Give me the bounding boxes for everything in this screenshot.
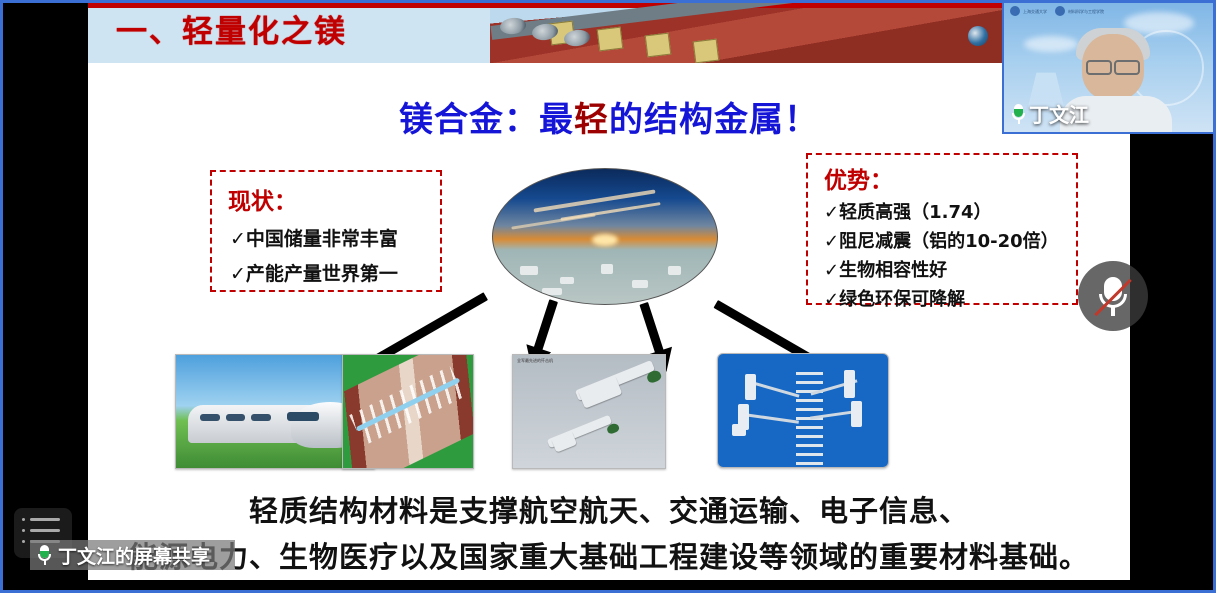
screen-share-indicator: 丁文江的屏幕共享 [30, 540, 235, 570]
slide-headline: 镁合金：最轻的结构金属！ [88, 92, 1130, 141]
status-box-item-2: ✓产能产量世界第一 [230, 259, 430, 286]
institute-logo-text: 材料科学与工程学院 [1068, 9, 1104, 14]
headline-part2: 的结构金属！ [609, 100, 819, 140]
screen-share-label: 丁文江的屏幕共享 [58, 542, 210, 569]
advantage-box: 优势： ✓轻质高强（1.74） ✓阻尼减震（铝的10-20倍） ✓生物相容性好 … [806, 153, 1078, 305]
salt-lake-image [492, 168, 718, 305]
slide-banner: 一、轻量化之镁 [88, 0, 1130, 63]
status-box-title: 现状： [228, 182, 430, 216]
institute-logo-mark [1055, 6, 1065, 16]
microphone-icon [1012, 104, 1025, 124]
participant-name-badge: 丁文江 [1012, 99, 1089, 128]
advantage-box-item-2: ✓阻尼减震（铝的10-20倍） [824, 227, 1066, 253]
zoom-meeting-window: 一、轻量化之镁 镁合金：最轻的结构金属！ 现状： ✓中国储量非常丰富 ✓产能产量… [0, 0, 1216, 593]
glasses-left-lens [1086, 60, 1112, 75]
application-image-jet: 全军最先进的歼击机 [512, 354, 666, 469]
university-logo-text: 上海交通大学 [1023, 9, 1047, 14]
advantage-box-item-1: ✓轻质高强（1.74） [824, 198, 1066, 224]
headline-highlight: 轻 [574, 100, 609, 140]
glasses-right-lens [1114, 60, 1140, 75]
slide-paragraph: 轻质结构材料是支撑航空航天、交通运输、电子信息、 能源电力、生物医疗以及国家重大… [108, 488, 1110, 580]
participant-name: 丁文江 [1029, 99, 1089, 128]
advantage-box-item-3: ✓生物相容性好 [824, 256, 1066, 282]
university-logo-mark [1010, 6, 1020, 16]
participant-video-thumbnail[interactable]: 上海交通大学 材料科学与工程学院 丁文江 [1002, 0, 1216, 134]
slide-title: 一、轻量化之镁 [116, 6, 347, 51]
advantage-box-title: 优势： [824, 161, 1066, 195]
application-image-tower [717, 353, 889, 468]
status-box: 现状： ✓中国储量非常丰富 ✓产能产量世界第一 [210, 170, 442, 292]
mute-toggle-button[interactable] [1078, 261, 1148, 331]
institute-logo: 材料科学与工程学院 [1055, 6, 1104, 16]
university-logo: 上海交通大学 [1010, 6, 1047, 16]
shared-slide: 一、轻量化之镁 镁合金：最轻的结构金属！ 现状： ✓中国储量非常丰富 ✓产能产量… [88, 0, 1130, 580]
share-microphone-icon [38, 545, 51, 565]
advantage-box-item-4: ✓绿色环保可降解 [824, 285, 1066, 311]
video-logos: 上海交通大学 材料科学与工程学院 [1010, 6, 1104, 16]
jet-image-caption: 全军最先进的歼击机 [517, 358, 553, 364]
headline-part1: 镁合金：最 [399, 100, 574, 140]
slide-paragraph-line-2: 能源电力、生物医疗以及国家重大基础工程建设等领域的重要材料基础。 [108, 534, 1110, 580]
left-sidebar [3, 3, 88, 590]
status-box-item-1: ✓中国储量非常丰富 [230, 224, 430, 251]
application-image-stent [342, 354, 474, 469]
slide-paragraph-line-1: 轻质结构材料是支撑航空航天、交通运输、电子信息、 [108, 488, 1110, 534]
